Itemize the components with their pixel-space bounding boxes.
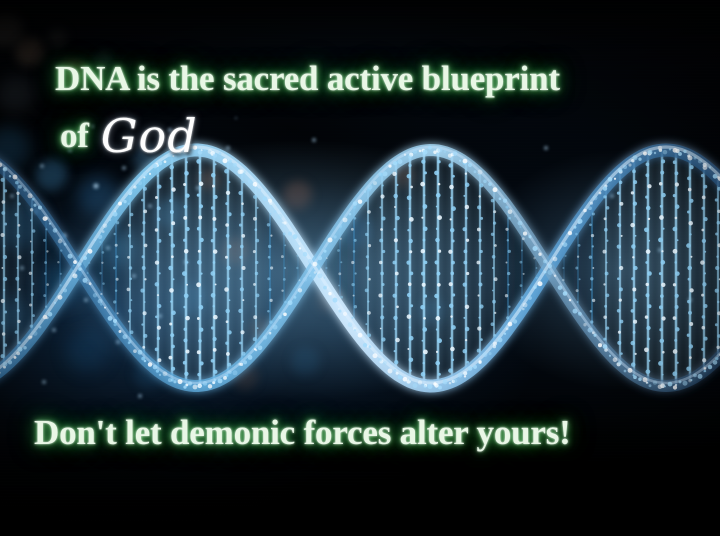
text-overlay: DNA is the sacred active blueprint ofGod… <box>0 0 720 536</box>
footer-line: Don't let demonic forces alter yours! <box>34 413 571 453</box>
headline-god-word: God <box>89 109 198 163</box>
meme-image: DNA is the sacred active blueprint ofGod… <box>0 0 720 536</box>
headline-line-1: DNA is the sacred active blueprint <box>55 59 560 99</box>
headline-line-2: ofGod <box>60 104 198 158</box>
headline-of-word: of <box>60 116 89 155</box>
